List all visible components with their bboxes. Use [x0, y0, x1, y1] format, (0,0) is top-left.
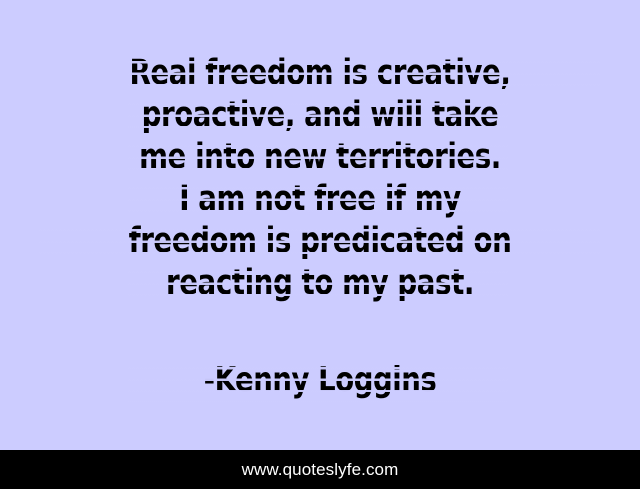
quote-line: Real freedom is creative, — [38, 52, 601, 94]
quote-text-block: Real freedom is creative, proactive, and… — [0, 52, 640, 304]
quote-line: me into new territories. — [38, 136, 601, 178]
site-url: www.quoteslyfe.com — [242, 450, 399, 489]
quote-line: I am not free if my — [38, 178, 601, 220]
footer-bar: www.quoteslyfe.com — [0, 450, 640, 489]
quote-line: reacting to my past. — [38, 262, 601, 304]
quote-line: proactive, and will take — [38, 94, 601, 136]
attribution-block: -Kenny Loggins — [0, 358, 640, 402]
quote-card: Real freedom is creative, proactive, and… — [0, 0, 640, 489]
quote-line: freedom is predicated on — [38, 220, 601, 262]
quote-author: -Kenny Loggins — [32, 358, 608, 402]
